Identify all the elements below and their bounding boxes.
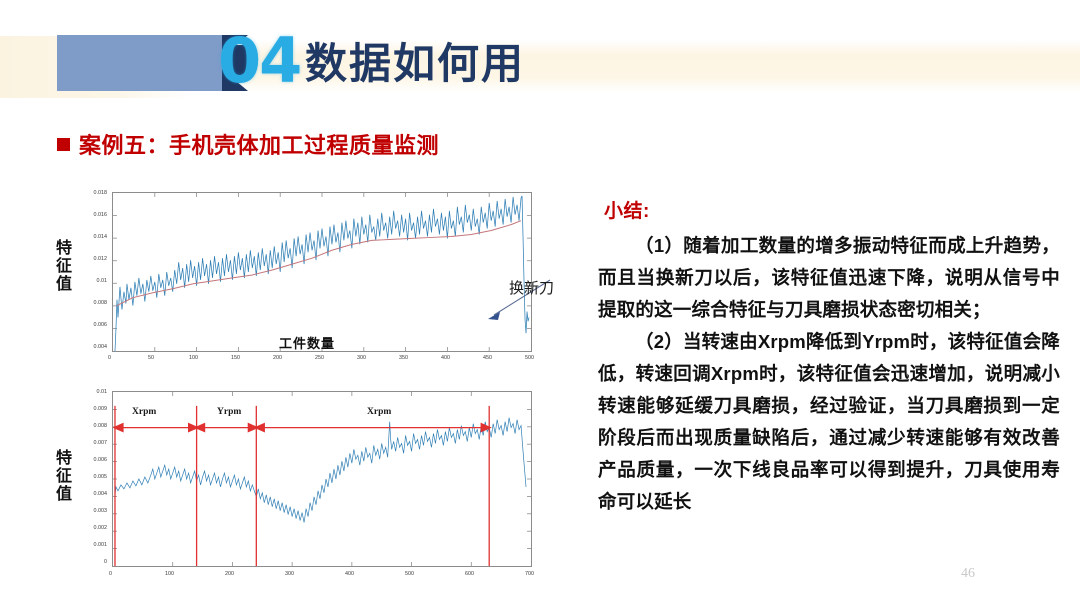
top-ytick-0004: 0.004 — [79, 344, 107, 350]
summary-paragraph-1: （1）随着加工数量的增多振动特征而成上升趋势，而且当换新刀以后，该特征值迅速下降… — [598, 230, 1060, 326]
slide: 04 数据如何用 案例五：手机壳体加工过程质量监测 特征值 0.018 0.01… — [0, 0, 1080, 607]
bot-ytick-0007: 0.007 — [79, 440, 107, 446]
bottom-chart-plot — [112, 391, 532, 567]
bot-xtick-400: 400 — [345, 571, 354, 577]
bot-ytick-0008: 0.008 — [79, 423, 107, 429]
slide-header: 04 数据如何用 — [0, 28, 1080, 104]
bot-xtick-600: 600 — [465, 571, 474, 577]
bottom-chart: 特征值 0.01 0.009 0.008 0.007 0.006 0.005 0… — [52, 385, 562, 600]
segment-label-xrpm-2: Xrpm — [367, 407, 391, 417]
bottom-chart-ylabel: 特征值 — [54, 450, 74, 504]
top-ytick-001: 0.01 — [79, 278, 107, 284]
top-xtick-400: 400 — [441, 355, 450, 361]
bot-xtick-100: 100 — [165, 571, 174, 577]
square-bullet-icon — [57, 138, 70, 151]
top-xtick-500: 500 — [525, 355, 534, 361]
segment-label-xrpm-1: Xrpm — [132, 407, 156, 417]
segment-label-yrpm: Yrpm — [217, 407, 241, 417]
top-chart-plot — [112, 192, 532, 352]
top-xtick-150: 150 — [231, 355, 240, 361]
bot-xtick-200: 200 — [225, 571, 234, 577]
top-xtick-300: 300 — [357, 355, 366, 361]
top-xtick-250: 250 — [315, 355, 324, 361]
top-chart-xlabel: 工件数量 — [279, 333, 335, 352]
bot-xtick-0: 0 — [109, 571, 112, 577]
bot-xtick-300: 300 — [285, 571, 294, 577]
bot-ytick-0001: 0.001 — [79, 542, 107, 548]
bot-ytick-0009: 0.009 — [79, 406, 107, 412]
bot-ytick-0: 0 — [79, 559, 107, 565]
top-xtick-450: 450 — [483, 355, 492, 361]
top-chart-ylabel: 特征值 — [54, 240, 74, 294]
bot-ytick-0006: 0.006 — [79, 457, 107, 463]
top-xtick-200: 200 — [273, 355, 282, 361]
tool-change-annotation: 换新刀 — [509, 277, 554, 298]
top-ytick-0018: 0.018 — [79, 190, 107, 196]
bot-ytick-0002: 0.002 — [79, 525, 107, 531]
top-ytick-0006: 0.006 — [79, 322, 107, 328]
top-xtick-0: 0 — [108, 355, 111, 361]
bot-ytick-0003: 0.003 — [79, 508, 107, 514]
page-title: 数据如何用 — [305, 32, 525, 96]
page-number: 46 — [961, 566, 975, 582]
top-ytick-0016: 0.016 — [79, 212, 107, 218]
case-subtitle: 案例五：手机壳体加工过程质量监测 — [79, 128, 439, 160]
top-xtick-350: 350 — [399, 355, 408, 361]
top-ytick-0012: 0.012 — [79, 256, 107, 262]
top-ytick-0014: 0.014 — [79, 234, 107, 240]
summary-block: 小结: （1）随着加工数量的增多振动特征而成上升趋势，而且当换新刀以后，该特征值… — [598, 196, 1060, 518]
bot-xtick-700: 700 — [525, 571, 534, 577]
charts-column: 特征值 0.018 0.016 0.014 0.012 0.01 0.008 0… — [52, 185, 562, 605]
summary-heading: 小结: — [604, 196, 1060, 223]
bot-ytick-0005: 0.005 — [79, 474, 107, 480]
summary-paragraph-2: （2）当转速由Xrpm降低到Yrpm时，该特征值会降低，转速回调Xrpm时，该特… — [598, 326, 1060, 518]
bot-xtick-500: 500 — [405, 571, 414, 577]
top-chart: 特征值 0.018 0.016 0.014 0.012 0.01 0.008 0… — [52, 185, 562, 381]
top-xtick-50: 50 — [148, 355, 154, 361]
top-ytick-0008: 0.008 — [79, 300, 107, 306]
bot-ytick-0004: 0.004 — [79, 491, 107, 497]
case-subtitle-row: 案例五：手机壳体加工过程质量监测 — [57, 128, 439, 160]
section-number: 04 — [218, 26, 300, 96]
bot-ytick-001: 0.01 — [79, 389, 107, 395]
header-banner — [57, 35, 227, 91]
top-xtick-100: 100 — [189, 355, 198, 361]
